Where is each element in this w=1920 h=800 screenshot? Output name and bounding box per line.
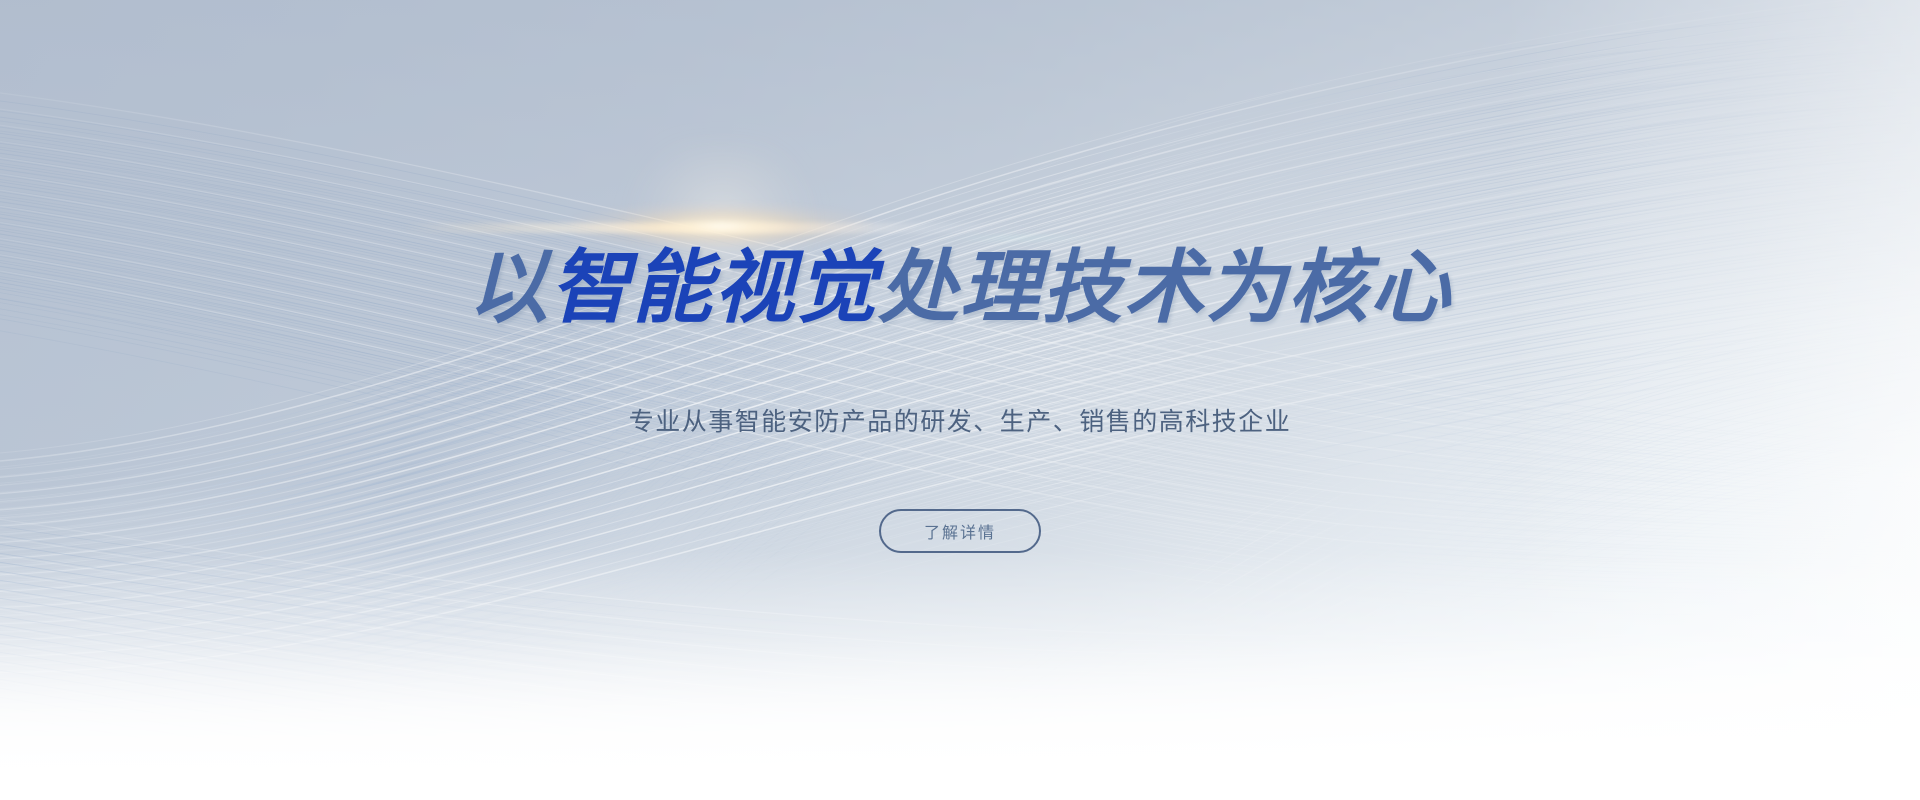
page-subtitle: 专业从事智能安防产品的研发、生产、销售的高科技企业	[0, 406, 1920, 439]
headline-segment-2: 智能视觉	[550, 241, 878, 334]
learn-more-button[interactable]: 了解详情	[879, 509, 1041, 553]
headline-segment-3: 处理技术为核心	[878, 241, 1452, 334]
hero-banner: 以智能视觉处理技术为核心 专业从事智能安防产品的研发、生产、销售的高科技企业 了…	[0, 0, 1920, 800]
hero-content: 以智能视觉处理技术为核心 专业从事智能安防产品的研发、生产、销售的高科技企业 了…	[0, 0, 1920, 800]
page-title: 以智能视觉处理技术为核心	[0, 248, 1920, 328]
cta-container: 了解详情	[0, 509, 1920, 553]
headline-segment-1: 以	[468, 241, 550, 334]
